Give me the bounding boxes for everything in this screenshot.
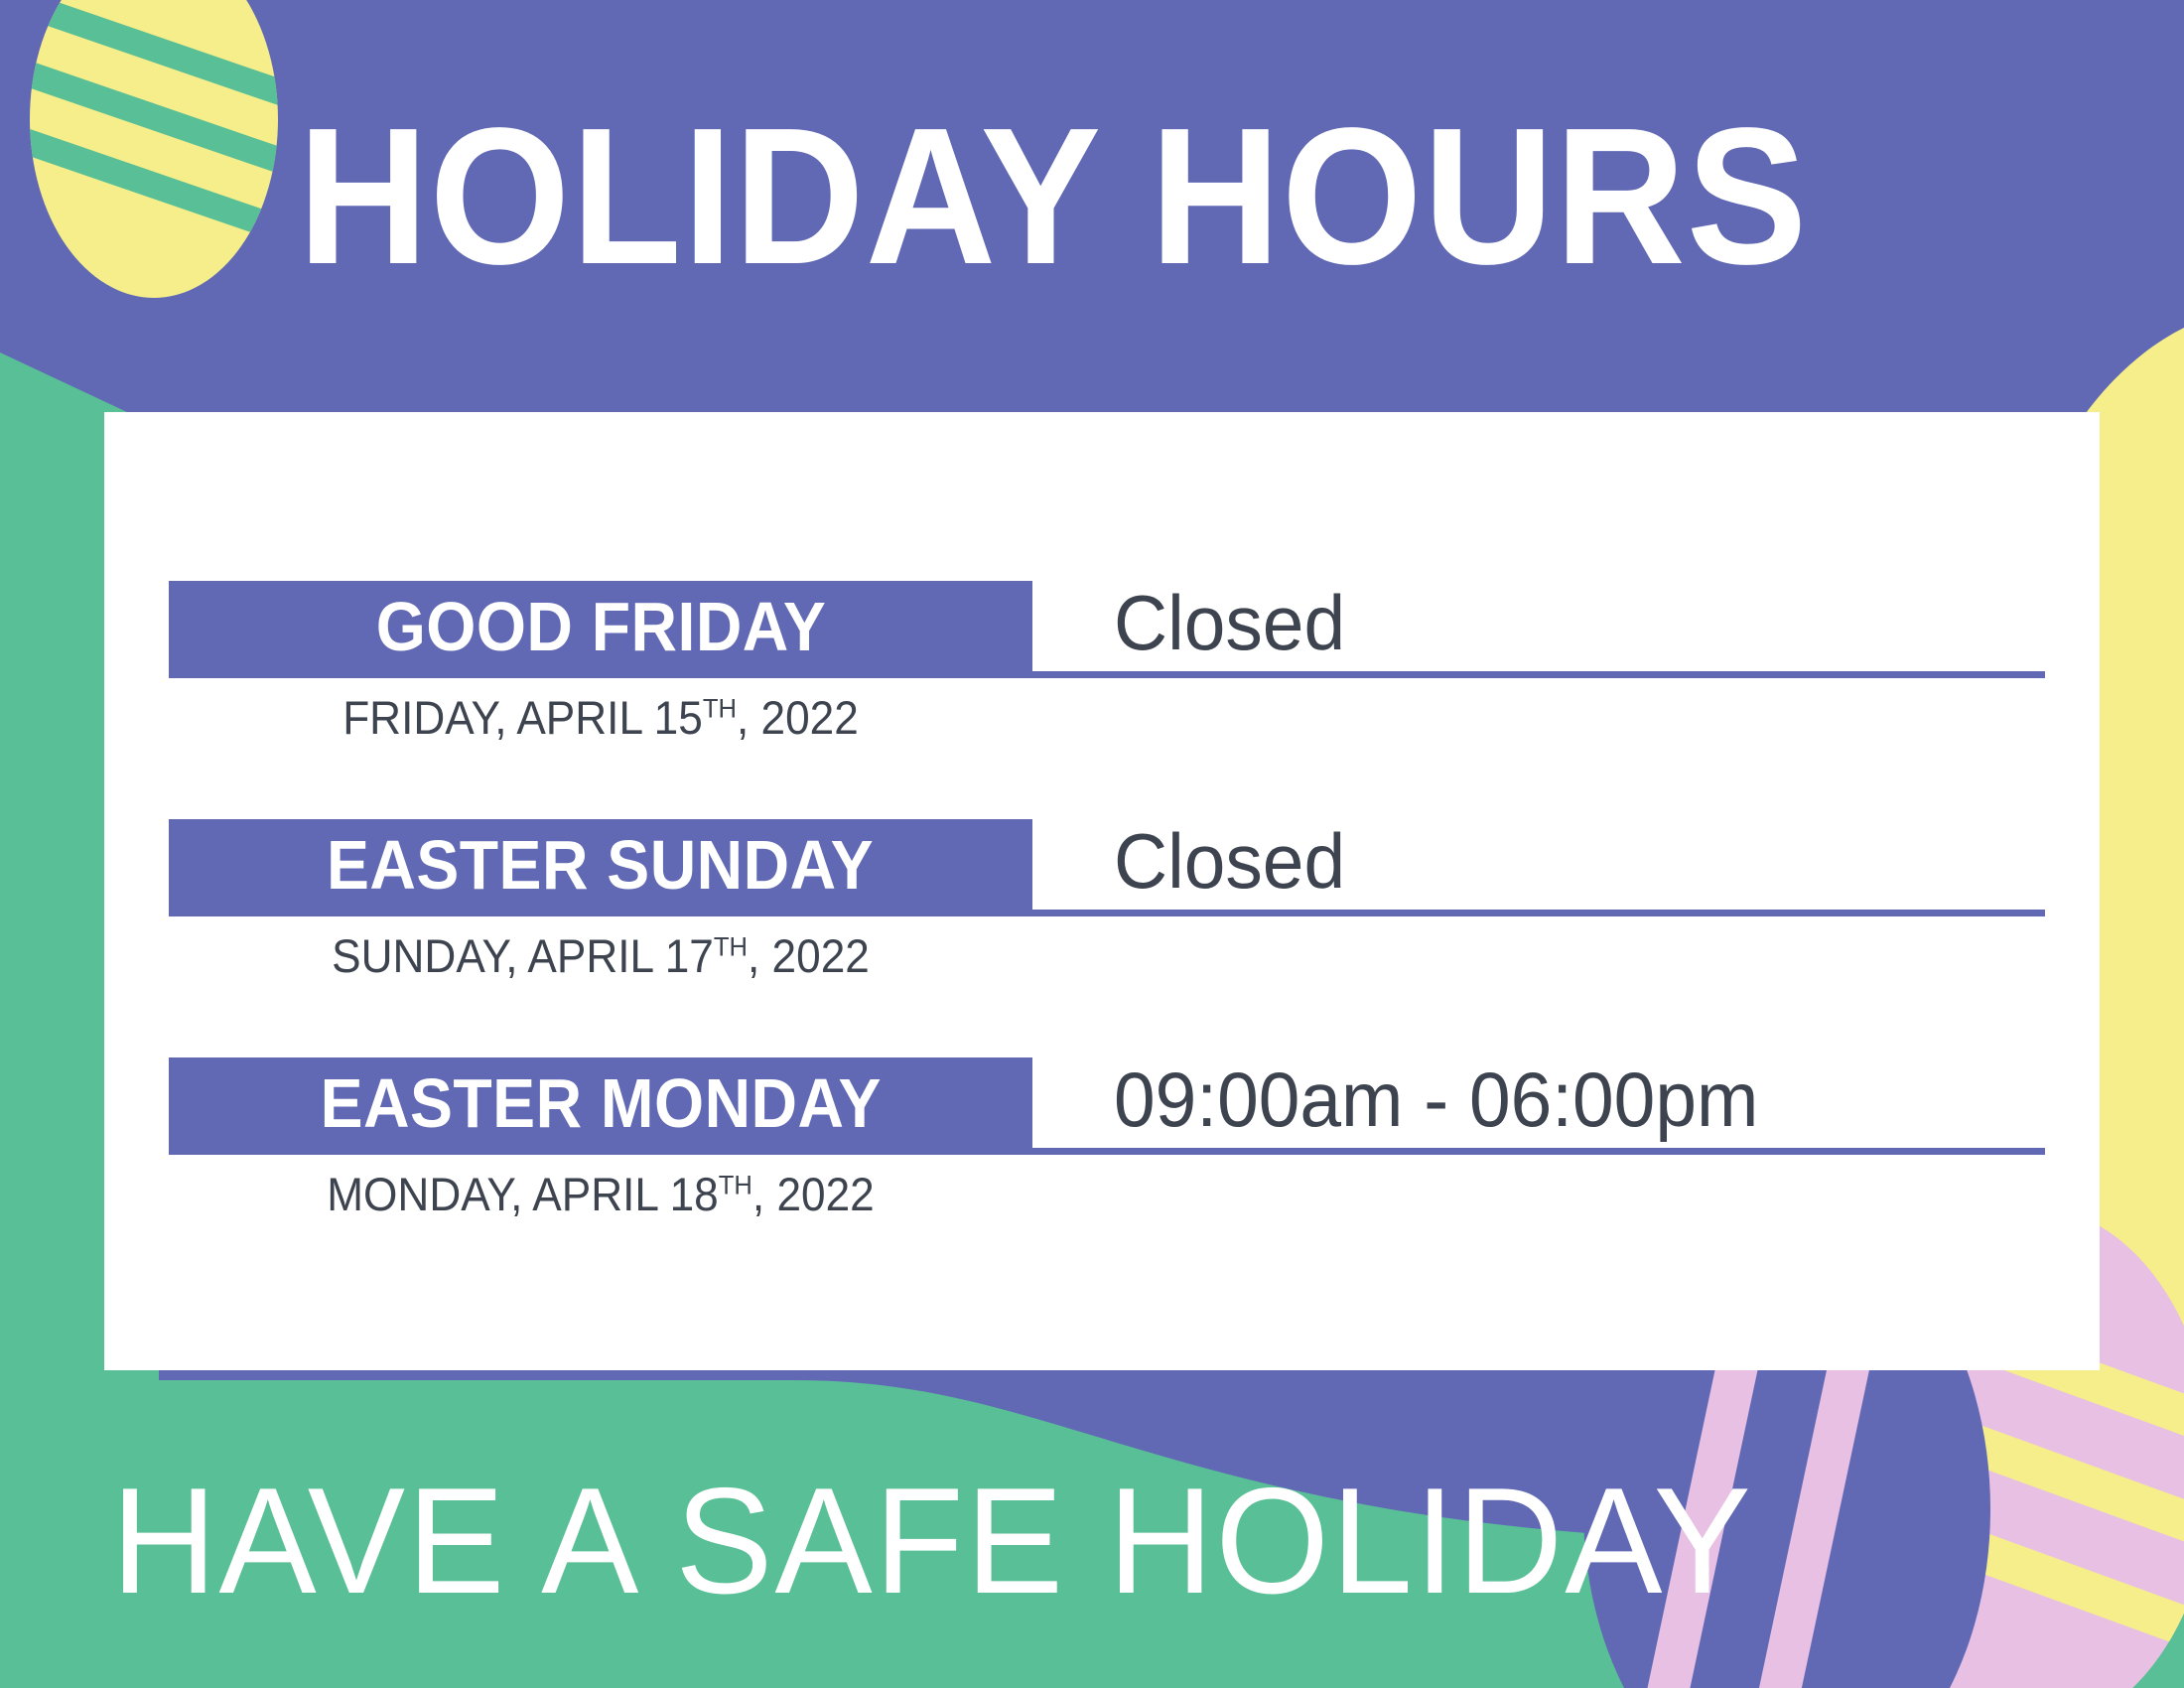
hours-cell: 09:00am - 06:00pm <box>1032 1057 2045 1155</box>
page-title: HOLIDAY HOURS <box>298 97 1867 306</box>
schedule-row-main: EASTER SUNDAY Closed <box>169 819 2045 916</box>
holiday-date: SUNDAY, APRIL 17TH, 2022 <box>195 930 1007 982</box>
hours-value: 09:00am - 06:00pm <box>1114 1059 1758 1139</box>
holiday-label: EASTER MONDAY <box>320 1068 881 1138</box>
schedule-card: GOOD FRIDAY Closed FRIDAY, APRIL 15TH, 2… <box>104 412 2100 1370</box>
holiday-label-chip: EASTER MONDAY <box>169 1057 1032 1155</box>
footer-message: HAVE A SAFE HOLIDAY <box>111 1462 1753 1620</box>
date-ordinal: TH <box>703 692 737 723</box>
schedule-row-main: GOOD FRIDAY Closed <box>169 581 2045 678</box>
schedule-row: EASTER MONDAY 09:00am - 06:00pm MONDAY, … <box>169 1057 2045 1296</box>
schedule-row: GOOD FRIDAY Closed FRIDAY, APRIL 15TH, 2… <box>169 581 2045 819</box>
date-suffix: , 2022 <box>748 929 870 982</box>
hours-value: Closed <box>1114 583 1345 662</box>
holiday-hours-poster: HOLIDAY HOURS GOOD FRIDAY Closed FRIDAY,… <box>0 0 2184 1688</box>
holiday-label-chip: EASTER SUNDAY <box>169 819 1032 916</box>
holiday-label: EASTER SUNDAY <box>327 830 874 900</box>
hours-value: Closed <box>1114 821 1345 901</box>
holiday-label-chip: GOOD FRIDAY <box>169 581 1032 678</box>
holiday-label: GOOD FRIDAY <box>375 592 826 661</box>
date-ordinal: TH <box>714 930 748 961</box>
hours-cell: Closed <box>1032 819 2045 916</box>
schedule-row-main: EASTER MONDAY 09:00am - 06:00pm <box>169 1057 2045 1155</box>
date-suffix: , 2022 <box>737 691 859 744</box>
schedule-rows: GOOD FRIDAY Closed FRIDAY, APRIL 15TH, 2… <box>169 581 2045 1296</box>
holiday-date: FRIDAY, APRIL 15TH, 2022 <box>195 692 1007 744</box>
date-prefix: FRIDAY, APRIL 15 <box>342 691 703 744</box>
date-prefix: MONDAY, APRIL 18 <box>327 1168 719 1220</box>
schedule-row: EASTER SUNDAY Closed SUNDAY, APRIL 17TH,… <box>169 819 2045 1057</box>
date-prefix: SUNDAY, APRIL 17 <box>332 929 714 982</box>
date-ordinal: TH <box>719 1169 752 1199</box>
holiday-date: MONDAY, APRIL 18TH, 2022 <box>195 1169 1007 1220</box>
date-suffix: , 2022 <box>752 1168 875 1220</box>
hours-cell: Closed <box>1032 581 2045 678</box>
